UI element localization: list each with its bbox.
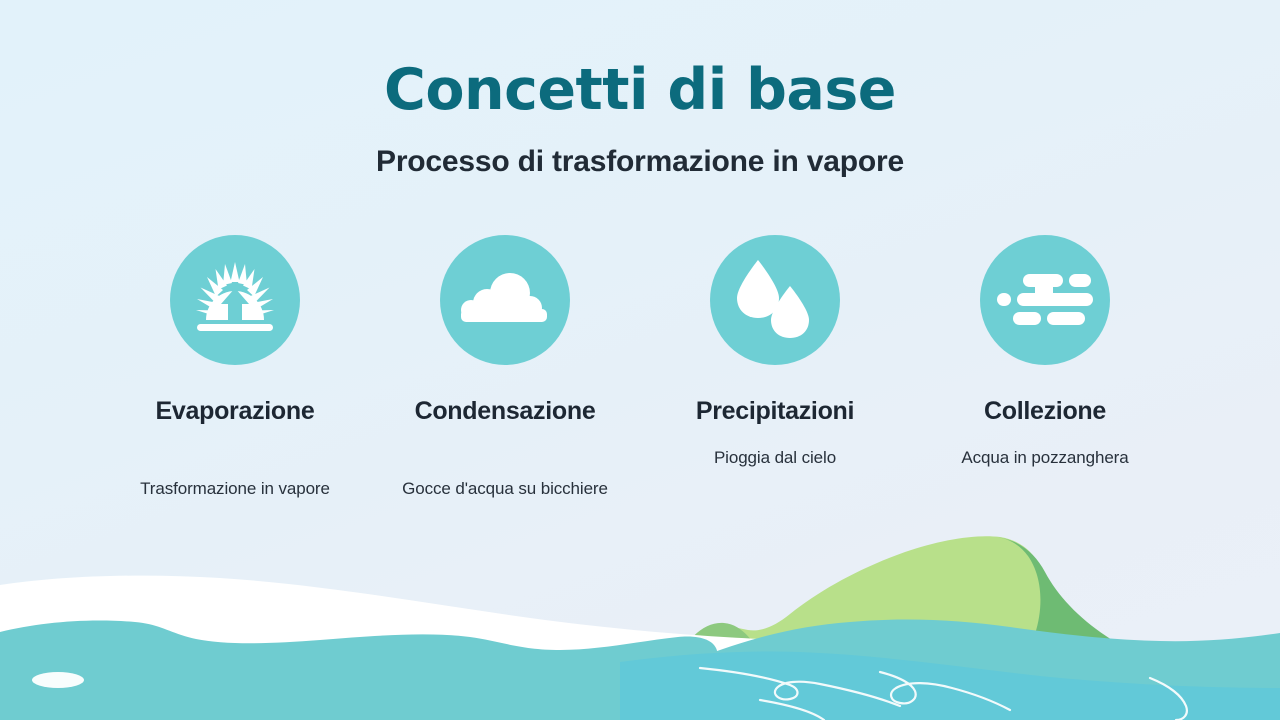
concept-precipitazioni[interactable]: Precipitazioni Pioggia dal cielo	[640, 235, 910, 499]
icon-circle-collezione[interactable]	[980, 235, 1110, 365]
concepts-row: Evaporazione Trasformazione in vapore Co…	[0, 235, 1280, 499]
concept-description: Gocce d'acqua su bicchiere	[402, 479, 608, 499]
page-subtitle: Processo di trasformazione in vapore	[0, 119, 1280, 179]
sea-water	[0, 620, 1280, 720]
sea-water-right	[620, 651, 1280, 720]
concept-label: Collezione	[984, 397, 1106, 426]
slide-canvas: Concetti di base Processo di trasformazi…	[0, 0, 1280, 720]
green-hill-dark	[995, 537, 1240, 690]
concept-description: Trasformazione in vapore	[140, 479, 330, 499]
concept-label: Evaporazione	[156, 397, 315, 426]
sun-evaporation-icon	[187, 258, 283, 342]
raindrops-icon	[730, 252, 820, 348]
wave-lines	[700, 668, 1187, 720]
foam-patch	[32, 672, 84, 688]
green-hill-knoll	[690, 623, 752, 648]
concept-label: Precipitazioni	[696, 397, 854, 426]
header: Concetti di base Processo di trasformazi…	[0, 0, 1280, 179]
icon-circle-precipitazioni[interactable]	[710, 235, 840, 365]
shore-foam	[0, 576, 1280, 720]
cloud-icon	[457, 265, 553, 335]
concept-collezione[interactable]: Collezione Acqua in pozzanghera	[910, 235, 1180, 499]
puddle-icon	[995, 272, 1095, 328]
concept-evaporazione[interactable]: Evaporazione Trasformazione in vapore	[100, 235, 370, 499]
concept-condensazione[interactable]: Condensazione Gocce d'acqua su bicchiere	[370, 235, 640, 499]
icon-circle-evaporazione[interactable]	[170, 235, 300, 365]
green-hill-light	[660, 536, 1047, 671]
concept-label: Condensazione	[415, 397, 596, 426]
concept-description: Pioggia dal cielo	[714, 448, 836, 468]
concept-description: Acqua in pozzanghera	[961, 448, 1128, 468]
page-title: Concetti di base	[0, 0, 1280, 119]
icon-circle-condensazione[interactable]	[440, 235, 570, 365]
